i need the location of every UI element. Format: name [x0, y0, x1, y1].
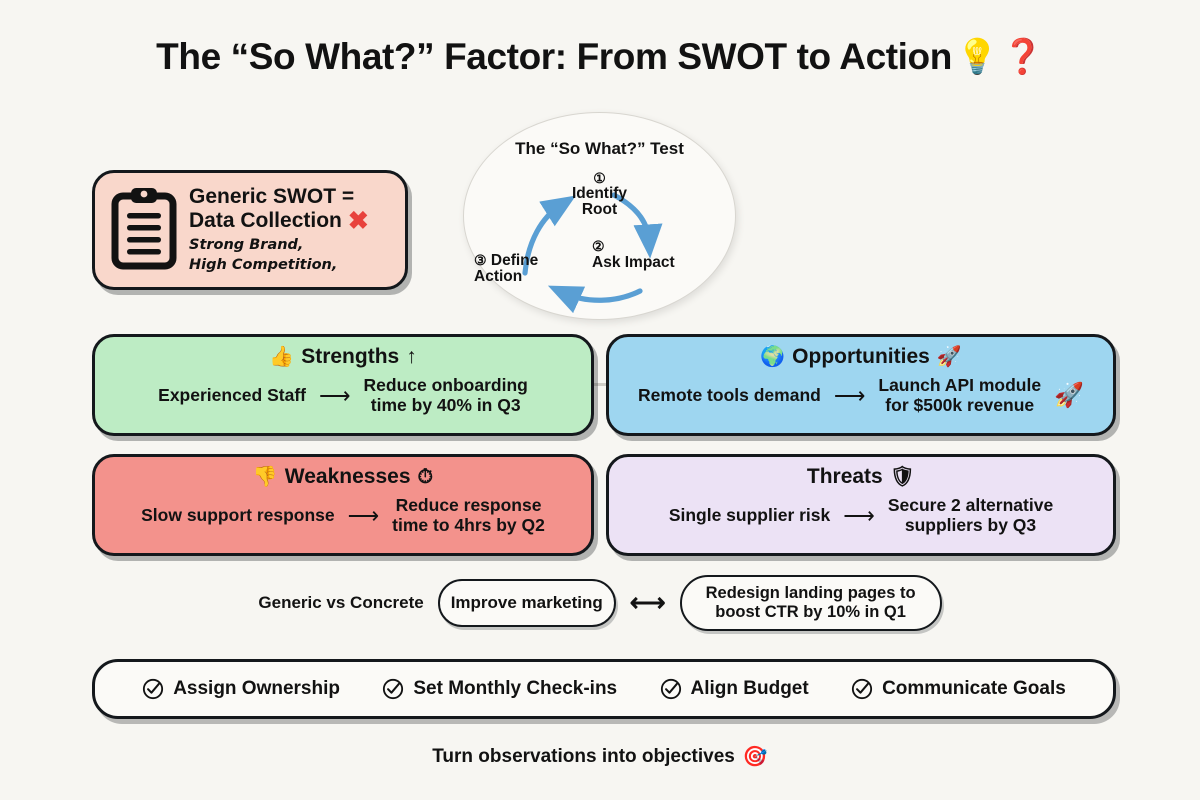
cross-mark-icon: ✖	[348, 209, 369, 234]
step-2-number: ②	[592, 238, 605, 254]
threats-body: Single supplier risk ⟶ Secure 2 alternat…	[609, 496, 1113, 536]
checklist-label: Assign Ownership	[173, 678, 340, 700]
step-1-line1: Identify	[572, 185, 627, 202]
cycle-step-1: ① Identify Root	[540, 171, 660, 219]
check-circle-icon	[142, 678, 164, 700]
shield-icon: 🛡	[890, 467, 915, 487]
generic-example-text: Improve marketing	[451, 593, 603, 613]
strengths-body: Experienced Staff ⟶ Reduce onboarding ti…	[95, 376, 591, 416]
up-arrow-icon: ↑	[406, 346, 417, 367]
step-2-line1: Ask Impact	[592, 254, 675, 271]
threats-heading: Threats 🛡	[807, 466, 915, 487]
weaknesses-observation: Slow support response	[141, 505, 335, 526]
strengths-label: Strengths	[301, 346, 399, 367]
so-what-test-circle: The “So What?” Test ① Identify Root ② As…	[463, 112, 736, 320]
step-3-number: ③	[474, 252, 487, 268]
checklist-item-communicate-goals[interactable]: Communicate Goals	[851, 678, 1066, 700]
threats-label: Threats	[807, 466, 883, 487]
opportunities-action-line2: for $500k revenue	[885, 395, 1034, 415]
checklist-label: Set Monthly Check-ins	[413, 678, 617, 700]
checklist-label: Align Budget	[691, 678, 809, 700]
opportunities-card: 🌍 Opportunities 🚀 Remote tools demand ⟶ …	[606, 334, 1116, 436]
opportunities-heading: 🌍 Opportunities 🚀	[760, 346, 961, 367]
weaknesses-action: Reduce response time to 4hrs by Q2	[392, 496, 545, 536]
strengths-heading: 👍 Strengths ↑	[269, 346, 416, 367]
cycle-step-2: ② Ask Impact	[592, 239, 722, 272]
generic-example-pill[interactable]: Improve marketing	[438, 579, 616, 627]
checklist-item-set-monthly-check-ins[interactable]: Set Monthly Check-ins	[382, 678, 617, 700]
generic-swot-sub-line2: High Competition,	[189, 257, 369, 274]
lightbulb-icon: 💡	[956, 37, 998, 77]
weaknesses-body: Slow support response ⟶ Reduce response …	[95, 496, 591, 536]
globe-icon: 🌍	[760, 347, 785, 367]
cycle-step-3: ③ Define Action	[474, 253, 584, 286]
opportunities-body: Remote tools demand ⟶ Launch API module …	[609, 376, 1113, 416]
action-checklist-bar: Assign Ownership Set Monthly Check-ins A…	[92, 659, 1116, 719]
weaknesses-action-line1: Reduce response	[396, 495, 542, 515]
threats-action: Secure 2 alternative suppliers by Q3	[888, 496, 1053, 536]
checklist-item-assign-ownership[interactable]: Assign Ownership	[142, 678, 340, 700]
thumbs-down-icon: 👎	[253, 467, 278, 487]
concrete-example-text: Redesign landing pages to boost CTR by 1…	[706, 584, 916, 622]
right-arrow-icon: ⟶	[348, 505, 380, 527]
check-circle-icon	[382, 678, 404, 700]
infographic-canvas: The “So What?” Factor: From SWOT to Acti…	[0, 0, 1200, 800]
weaknesses-heading: 👎 Weaknesses ⏱	[253, 466, 433, 487]
opportunities-label: Opportunities	[792, 346, 930, 367]
footer-tagline: Turn observations into objectives 🎯	[0, 744, 1200, 769]
generic-swot-heading-line2: Data Collection ✖	[189, 209, 369, 234]
right-arrow-icon: ⟶	[319, 385, 351, 407]
generic-swot-sub-line1: Strong Brand,	[189, 237, 369, 254]
generic-swot-heading-line1: Generic SWOT =	[189, 186, 369, 208]
compare-label: Generic vs Concrete	[258, 593, 423, 613]
threats-observation: Single supplier risk	[669, 505, 830, 526]
strengths-action-line1: Reduce onboarding	[364, 375, 528, 395]
opportunities-action: Launch API module for $500k revenue	[878, 376, 1041, 416]
right-arrow-icon: ⟶	[843, 505, 875, 527]
footer-text: Turn observations into objectives	[432, 746, 735, 768]
step-1-line2: Root	[582, 201, 617, 218]
weaknesses-label: Weaknesses	[285, 466, 411, 487]
step-3-line2: Action	[474, 268, 522, 285]
page-title: The “So What?” Factor: From SWOT to Acti…	[0, 36, 1200, 78]
strengths-action-line2: time by 40% in Q3	[371, 395, 521, 415]
clipboard-icon	[111, 186, 177, 275]
generic-swot-card: Generic SWOT = Data Collection ✖ Strong …	[92, 170, 408, 290]
thumbs-up-icon: 👍	[269, 347, 294, 367]
generic-vs-concrete-row: Generic vs Concrete Improve marketing ⟷ …	[0, 575, 1200, 631]
strengths-observation: Experienced Staff	[158, 385, 306, 406]
check-circle-icon	[660, 678, 682, 700]
strengths-action: Reduce onboarding time by 40% in Q3	[364, 376, 528, 416]
threats-action-line1: Secure 2 alternative	[888, 495, 1053, 515]
threats-card: Threats 🛡 Single supplier risk ⟶ Secure …	[606, 454, 1116, 556]
opportunities-action-line1: Launch API module	[878, 375, 1041, 395]
step-1-number: ①	[540, 171, 660, 186]
page-title-text: The “So What?” Factor: From SWOT to Acti…	[156, 36, 952, 78]
checklist-label: Communicate Goals	[882, 678, 1066, 700]
stopwatch-icon: ⏱	[418, 467, 434, 487]
rocket-icon: 🚀	[937, 347, 962, 367]
right-arrow-icon: ⟶	[834, 385, 866, 407]
generic-swot-text: Generic SWOT = Data Collection ✖ Strong …	[189, 186, 369, 273]
strengths-card: 👍 Strengths ↑ Experienced Staff ⟶ Reduce…	[92, 334, 594, 436]
rocket-icon-trailing: 🚀	[1054, 381, 1084, 410]
threats-action-line2: suppliers by Q3	[905, 515, 1036, 535]
concrete-example-pill[interactable]: Redesign landing pages to boost CTR by 1…	[680, 575, 942, 631]
left-right-arrow-icon: ⟷	[630, 591, 666, 616]
checklist-item-align-budget[interactable]: Align Budget	[660, 678, 809, 700]
weaknesses-action-line2: time to 4hrs by Q2	[392, 515, 545, 535]
step-3-line1: Define	[491, 252, 538, 269]
concrete-line1: Redesign landing pages to	[706, 584, 916, 602]
concrete-line2: boost CTR by 10% in Q1	[715, 603, 906, 621]
opportunities-observation: Remote tools demand	[638, 385, 821, 406]
check-circle-icon	[851, 678, 873, 700]
target-icon: 🎯	[743, 744, 768, 769]
weaknesses-card: 👎 Weaknesses ⏱ Slow support response ⟶ R…	[92, 454, 594, 556]
question-mark-icon: ❓	[1002, 37, 1044, 77]
